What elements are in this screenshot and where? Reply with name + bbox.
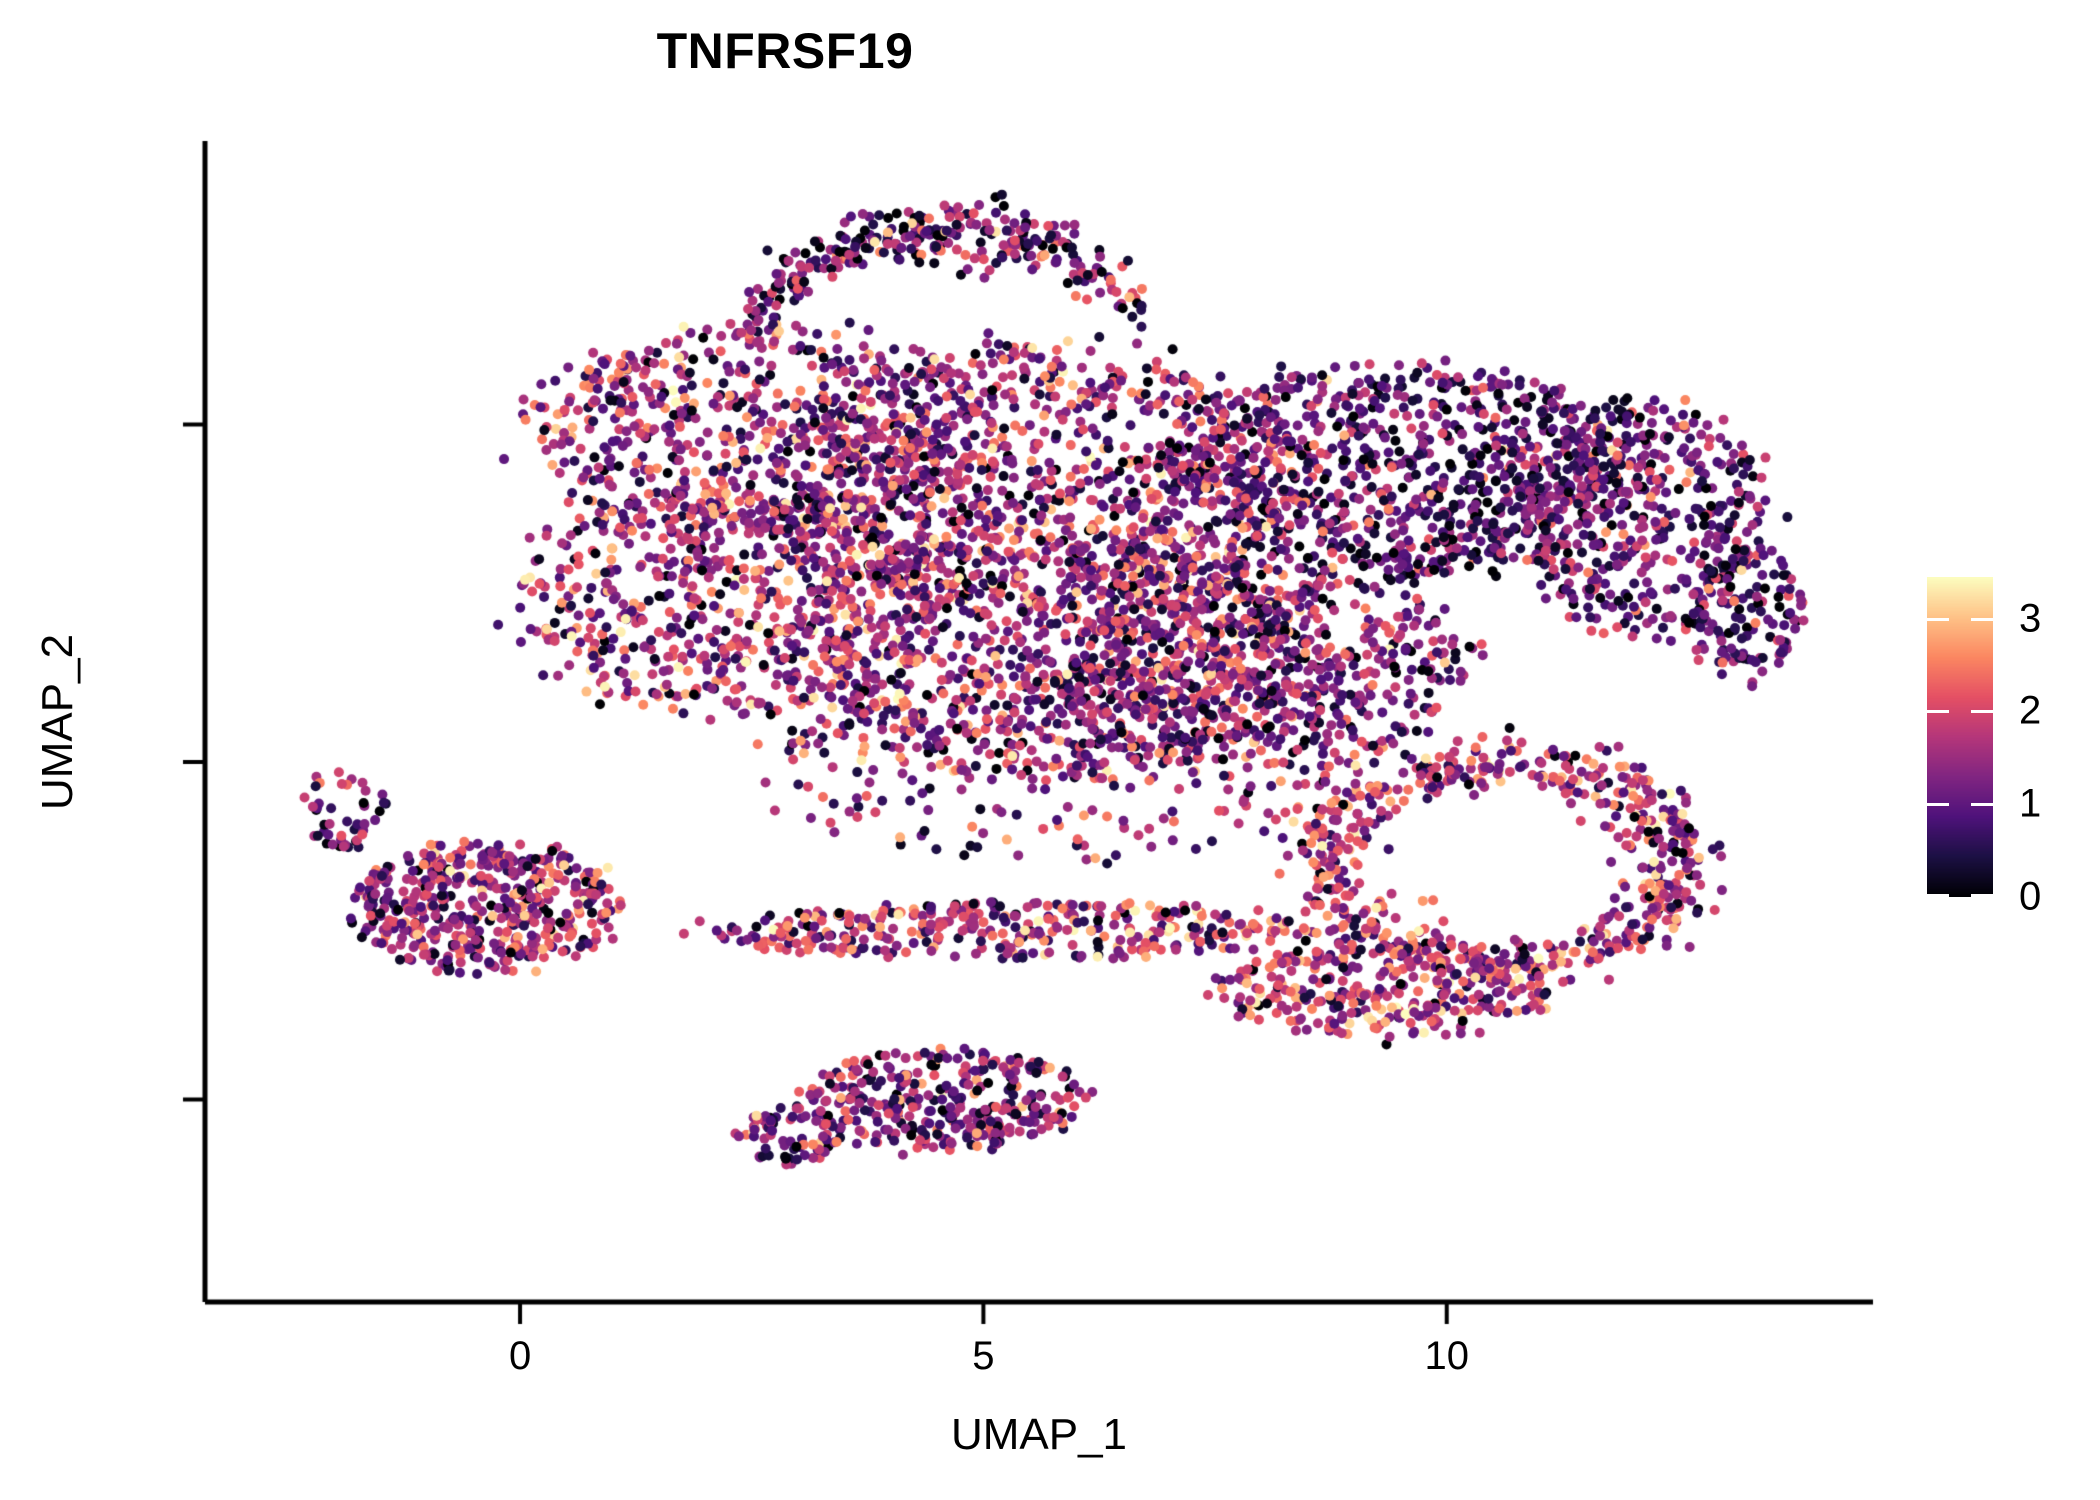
scatter-plot-canvas xyxy=(0,0,2100,1500)
colorbar-tick-mark xyxy=(1971,618,1993,621)
colorbar-tick-mark xyxy=(1971,710,1993,713)
colorbar-gradient xyxy=(1927,577,1993,897)
colorbar-tick-mark xyxy=(1927,618,1949,621)
colorbar-tick-mark xyxy=(1927,894,1949,897)
color-legend: 3210 xyxy=(1927,577,1993,897)
colorbar-tick-mark xyxy=(1971,803,1993,806)
colorbar-tick-mark xyxy=(1927,710,1949,713)
colorbar-tick-label: 1 xyxy=(2019,782,2041,827)
colorbar-tick-label: 3 xyxy=(2019,596,2041,641)
colorbar-tick-label: 2 xyxy=(2019,689,2041,734)
colorbar-tick-mark xyxy=(1927,803,1949,806)
colorbar-tick-label: 0 xyxy=(2019,875,2041,920)
colorbar-tick-mark xyxy=(1971,894,1993,897)
feature-plot-figure: TNFRSF19 UMAP_1 UMAP_2 05100510 3210 xyxy=(0,0,2100,1500)
